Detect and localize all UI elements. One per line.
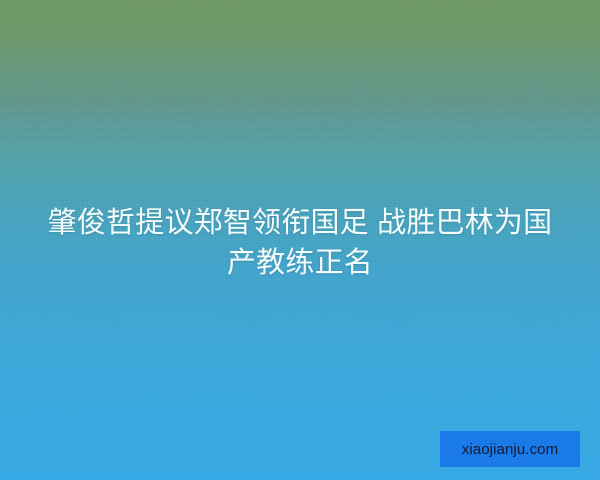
watermark-badge: xiaojianju.com: [440, 431, 580, 467]
poster-headline: 肇俊哲提议郑智领衔国足 战胜巴林为国产教练正名: [34, 203, 566, 283]
poster-image: 肇俊哲提议郑智领衔国足 战胜巴林为国产教练正名 xiaojianju.com: [0, 0, 600, 480]
watermark-label: xiaojianju.com: [462, 442, 558, 457]
